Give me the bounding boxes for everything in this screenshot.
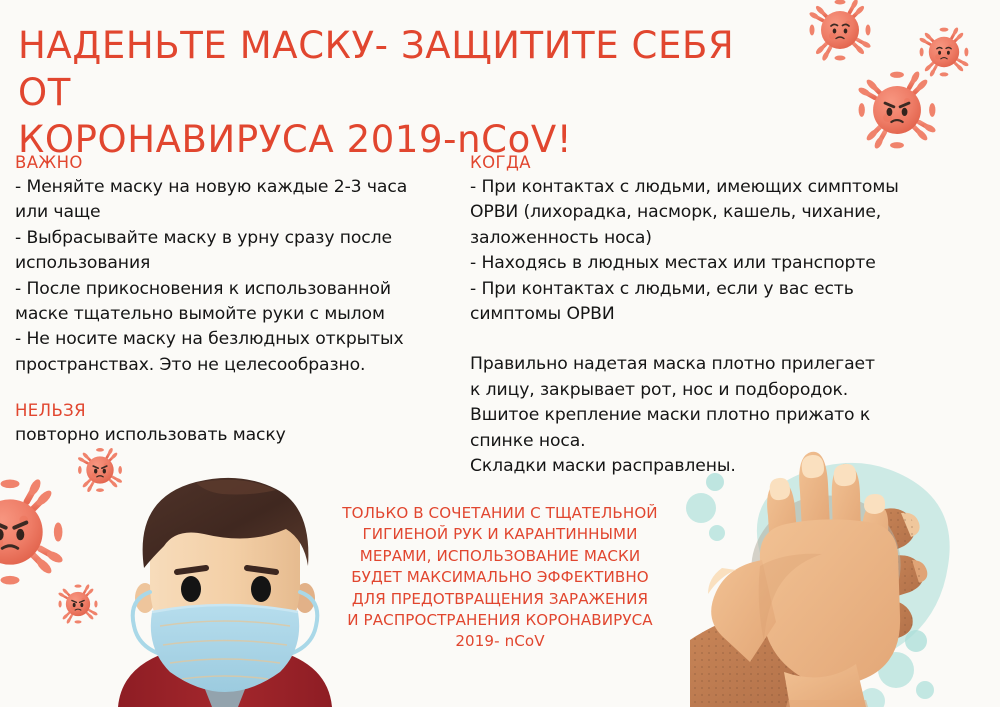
virus-small-upper (77, 447, 122, 492)
page-title: НАДЕНЬТЕ МАСКУ- ЗАЩИТИТЕ СЕБЯ ОТ КОРОНАВ… (18, 22, 738, 163)
center-caption: ТОЛЬКО В СОЧЕТАНИИ С ТЩАТЕЛЬНОЙ ГИГИЕНОЙ… (300, 503, 700, 653)
spacer (470, 327, 955, 352)
section-body-fit-note: Правильно надетая маска плотно прилегает… (470, 352, 955, 479)
spacer (15, 378, 467, 400)
virus-top-right-2 (919, 27, 970, 78)
virus-top-right-3 (857, 70, 937, 150)
section-heading-important: ВАЖНО (15, 152, 467, 174)
section-body-important: - Меняйте маску на новую каждые 2-3 часа… (15, 175, 467, 378)
virus-top-right-1 (808, 0, 871, 62)
section-heading-when: КОГДА (470, 152, 955, 174)
right-text-column: КОГДА - При контактах с людьми, имеющих … (470, 152, 955, 479)
hand-dark (690, 508, 927, 707)
poster-canvas: НАДЕНЬТЕ МАСКУ- ЗАЩИТИТЕ СЕБЯ ОТ КОРОНАВ… (0, 0, 1000, 707)
section-body-when: - При контактах с людьми, имеющих симпто… (470, 175, 955, 327)
hand-light (708, 452, 900, 707)
soap-bubbles (686, 473, 934, 707)
virus-left-large (0, 478, 64, 587)
left-text-column: ВАЖНО - Меняйте маску на новую каждые 2-… (15, 152, 467, 449)
section-body-forbidden: повторно использовать маску (15, 423, 467, 448)
washing-hands (686, 452, 950, 707)
section-heading-forbidden: НЕЛЬЗЯ (15, 400, 467, 422)
virus-small-lower (58, 584, 98, 624)
